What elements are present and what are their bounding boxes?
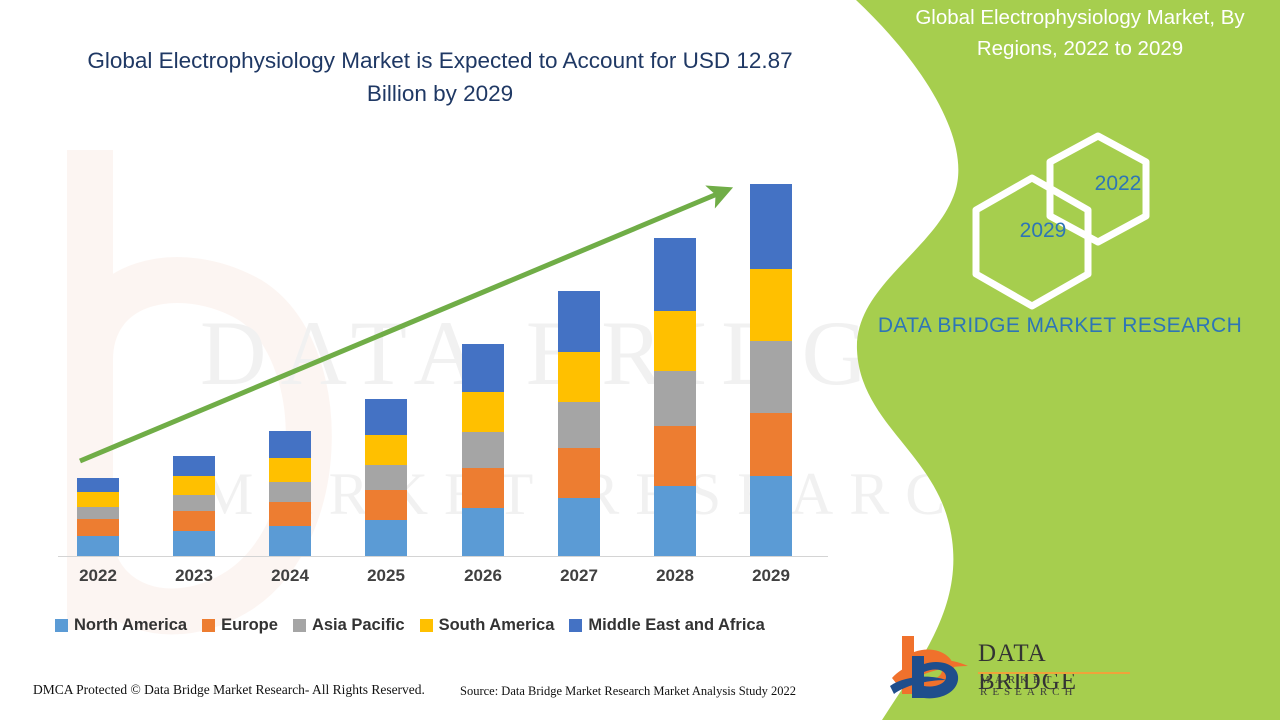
legend-swatch-icon — [569, 619, 582, 632]
panel-brand-text: DATA BRIDGE MARKET RESEARCH — [865, 310, 1255, 342]
right-green-panel: Global Electrophysiology Market, By Regi… — [830, 0, 1280, 720]
bar-segment — [365, 435, 407, 465]
legend-label: Asia Pacific — [312, 616, 405, 635]
x-axis-label-2028: 2028 — [640, 566, 710, 586]
bar-segment — [750, 184, 792, 269]
x-axis-line — [58, 556, 828, 557]
bar-segment — [269, 431, 311, 458]
databridge-logo: DATA BRIDGE MARKET RESEARCH — [890, 632, 1150, 702]
bar-segment — [77, 492, 119, 507]
logo-mark-icon — [890, 632, 970, 702]
x-axis-label-2029: 2029 — [736, 566, 806, 586]
bar-segment — [77, 536, 119, 556]
stacked-bars — [0, 0, 860, 556]
x-axis-label-2022: 2022 — [63, 566, 133, 586]
bar-segment — [558, 291, 600, 352]
x-axis-label-2025: 2025 — [351, 566, 421, 586]
bar-segment — [462, 392, 504, 432]
bar-segment — [173, 531, 215, 556]
bar-segment — [365, 520, 407, 556]
bar-segment — [269, 482, 311, 502]
bar-segment — [558, 498, 600, 556]
legend-item-middle-east-and-africa[interactable]: Middle East and Africa — [569, 616, 764, 635]
legend-swatch-icon — [420, 619, 433, 632]
legend-label: Europe — [221, 616, 278, 635]
bar-2025[interactable] — [365, 399, 407, 556]
bar-segment — [77, 519, 119, 536]
bar-segment — [654, 371, 696, 426]
bar-segment — [750, 341, 792, 413]
legend-label: South America — [439, 616, 555, 635]
bar-segment — [173, 456, 215, 476]
bar-segment — [269, 458, 311, 482]
legend-item-europe[interactable]: Europe — [202, 616, 278, 635]
bar-segment — [77, 478, 119, 492]
bar-segment — [365, 399, 407, 435]
x-axis-label-2026: 2026 — [448, 566, 518, 586]
bar-segment — [462, 344, 504, 392]
bar-segment — [269, 502, 311, 526]
legend-swatch-icon — [293, 619, 306, 632]
legend-label: North America — [74, 616, 187, 635]
bar-2023[interactable] — [173, 456, 215, 556]
bar-2024[interactable] — [269, 431, 311, 556]
bar-segment — [365, 490, 407, 520]
x-axis-labels: 20222023202420252026202720282029 — [0, 566, 860, 596]
panel-title: Global Electrophysiology Market, By Regi… — [885, 2, 1275, 64]
bar-segment — [462, 508, 504, 556]
bar-segment — [654, 238, 696, 311]
bar-segment — [558, 448, 600, 498]
bar-segment — [173, 511, 215, 531]
x-axis-label-2023: 2023 — [159, 566, 229, 586]
legend-swatch-icon — [202, 619, 215, 632]
bar-segment — [654, 311, 696, 371]
x-axis-label-2027: 2027 — [544, 566, 614, 586]
legend-item-south-america[interactable]: South America — [420, 616, 555, 635]
bar-segment — [750, 269, 792, 341]
hexagon-label-2029: 2029 — [998, 219, 1088, 243]
bar-segment — [654, 426, 696, 486]
legend-item-asia-pacific[interactable]: Asia Pacific — [293, 616, 405, 635]
green-panel-shape — [830, 0, 1280, 720]
bar-2022[interactable] — [77, 478, 119, 556]
bar-segment — [173, 495, 215, 511]
bar-2026[interactable] — [462, 344, 504, 556]
bar-segment — [654, 486, 696, 556]
hexagon-label-2022: 2022 — [1078, 172, 1158, 196]
bar-segment — [750, 476, 792, 556]
legend-swatch-icon — [55, 619, 68, 632]
bar-segment — [173, 476, 215, 495]
chart-plot-area: 20222023202420252026202720282029 — [0, 0, 860, 600]
chart-legend: North AmericaEuropeAsia PacificSouth Ame… — [55, 616, 845, 635]
bar-2028[interactable] — [654, 238, 696, 556]
logo-subtitle: MARKET RESEARCH — [980, 674, 1150, 698]
footer-copyright: DMCA Protected © Data Bridge Market Rese… — [33, 682, 425, 698]
bar-segment — [77, 507, 119, 519]
bar-segment — [462, 468, 504, 508]
bar-segment — [365, 465, 407, 490]
slide-canvas: DATA BRIDGE MARKET RESEARCH Global Elect… — [0, 0, 1280, 720]
bar-2027[interactable] — [558, 291, 600, 556]
bar-segment — [558, 352, 600, 402]
x-axis-label-2024: 2024 — [255, 566, 325, 586]
bar-segment — [750, 413, 792, 476]
legend-label: Middle East and Africa — [588, 616, 764, 635]
legend-item-north-america[interactable]: North America — [55, 616, 187, 635]
footer-source: Source: Data Bridge Market Research Mark… — [460, 684, 796, 699]
bar-2029[interactable] — [750, 184, 792, 556]
bar-segment — [558, 402, 600, 448]
bar-segment — [462, 432, 504, 468]
bar-segment — [269, 526, 311, 556]
